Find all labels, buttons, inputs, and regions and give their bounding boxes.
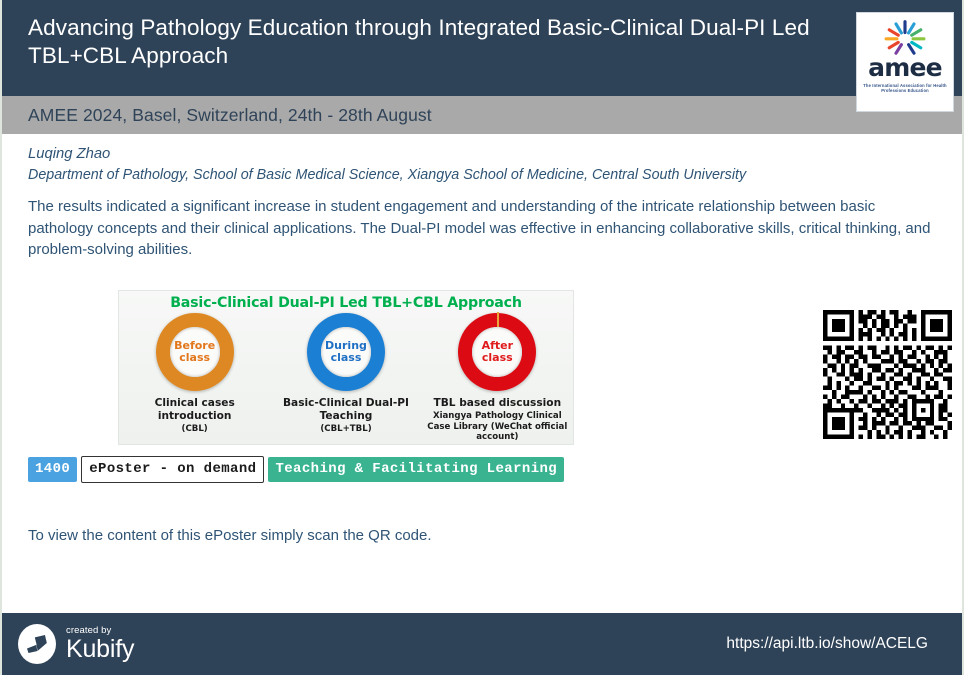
diagram-stages: Before class Clinical cases introduction… <box>119 313 573 443</box>
qr-code-image <box>823 310 952 439</box>
stage-after-class: After class TBL based discussion Xiangya… <box>422 313 572 443</box>
status-badge-topic[interactable]: Teaching & Facilitating Learning <box>268 457 564 482</box>
stage-caption-main: Clinical cases introduction <box>120 397 270 423</box>
qr-code[interactable] <box>823 310 952 439</box>
metadata-badges: 1400 ePoster - on demand Teaching & Faci… <box>28 456 564 483</box>
kubify-text-block: created by Kubify <box>66 626 134 662</box>
ring-gap-marker <box>497 312 499 327</box>
author-affiliation: Department of Pathology, School of Basic… <box>28 165 936 186</box>
stage-caption-sub: (CBL) <box>182 424 208 435</box>
kubify-logo-icon <box>18 624 56 664</box>
ring-label-line1: After <box>482 339 513 352</box>
ring-label-line1: Before <box>174 339 215 352</box>
ring-label-line2: class <box>331 351 362 364</box>
amee-logo: amee The International Association for H… <box>856 12 954 112</box>
stage-caption-sub: (CBL+TBL) <box>320 424 371 435</box>
ring-during-class: During class <box>307 313 385 391</box>
stage-caption-main: Basic-Clinical Dual-PI Teaching <box>271 397 421 423</box>
ring-label-line1: During <box>325 339 367 352</box>
stage-caption-sub: Xiangya Pathology Clinical Case Library … <box>422 411 572 443</box>
page-title: Advancing Pathology Education through In… <box>28 14 838 70</box>
scan-instruction: To view the content of this ePoster simp… <box>28 527 432 544</box>
eposter-url[interactable]: https://api.ltb.io/show/ACELG <box>726 635 938 653</box>
open-book-icon <box>25 632 49 656</box>
eposter-page: Advancing Pathology Education through In… <box>0 0 964 675</box>
ring-label-after: After class <box>482 340 513 365</box>
kubify-brand-name: Kubify <box>66 637 134 662</box>
content-area: Luqing Zhao Department of Pathology, Sch… <box>2 134 962 261</box>
ring-label-before: Before class <box>174 340 215 365</box>
ring-label-line2: class <box>179 351 210 364</box>
page-header: Advancing Pathology Education through In… <box>2 0 962 96</box>
ring-label-line2: class <box>482 351 513 364</box>
amee-tagline: The International Association for Health… <box>862 83 948 94</box>
conference-bar: AMEE 2024, Basel, Switzerland, 24th - 28… <box>2 96 962 134</box>
ring-after-class: After class <box>458 313 536 391</box>
kubify-brand[interactable]: created by Kubify <box>18 624 134 664</box>
diagram-title: Basic-Clinical Dual-PI Led TBL+CBL Appro… <box>119 295 573 311</box>
ring-label-during: During class <box>325 340 367 365</box>
stage-caption-main: TBL based discussion <box>433 397 561 410</box>
status-badge-type[interactable]: ePoster - on demand <box>81 456 264 483</box>
approach-diagram: Basic-Clinical Dual-PI Led TBL+CBL Appro… <box>118 290 574 445</box>
starburst-icon <box>882 19 928 55</box>
stage-before-class: Before class Clinical cases introduction… <box>120 313 270 435</box>
amee-wordmark: amee <box>868 56 942 80</box>
stage-during-class: During class Basic-Clinical Dual-PI Teac… <box>271 313 421 435</box>
ring-before-class: Before class <box>156 313 234 391</box>
author-name: Luqing Zhao <box>28 144 936 165</box>
page-footer: created by Kubify https://api.ltb.io/sho… <box>2 613 962 675</box>
abstract-text: The results indicated a significant incr… <box>28 196 936 261</box>
status-badge-id[interactable]: 1400 <box>28 457 77 482</box>
conference-info: AMEE 2024, Basel, Switzerland, 24th - 28… <box>28 105 432 126</box>
